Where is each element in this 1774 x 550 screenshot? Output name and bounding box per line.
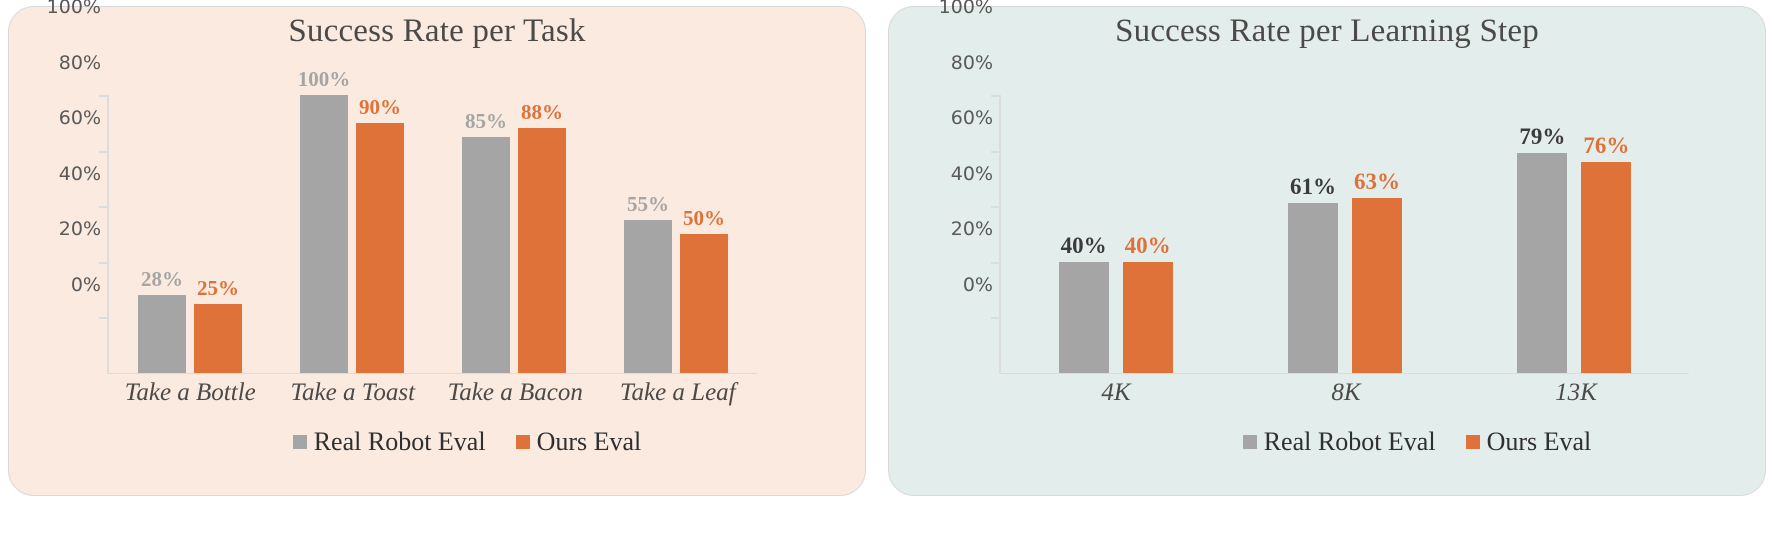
bar-ours[interactable]: 40%	[1123, 262, 1173, 373]
y-axis-tick	[99, 95, 107, 97]
bar-value-label: 40%	[1125, 233, 1171, 259]
bar-value-label: 88%	[521, 100, 563, 125]
x-axis-labels-left: Take a Bottle Take a Toast Take a Bacon …	[109, 379, 759, 407]
bar-value-label: 100%	[298, 67, 351, 92]
legend-item-ours-eval[interactable]: Ours Eval	[1466, 427, 1592, 457]
bar-real-robot[interactable]: 40%	[1059, 262, 1109, 373]
y-axis-tick	[991, 151, 999, 153]
legend-item-real-robot-eval[interactable]: Real Robot Eval	[1243, 427, 1436, 457]
bar-ours[interactable]: 50%	[680, 234, 728, 373]
bar-value-label: 90%	[359, 95, 401, 120]
plot-area-left: 28% 25% 100%	[107, 95, 757, 373]
bar-groups-left: 28% 25% 100%	[109, 95, 757, 373]
bar-ours[interactable]: 76%	[1581, 162, 1631, 373]
bar-real-robot[interactable]: 79%	[1517, 153, 1567, 373]
bar-group: 40% 40%	[1001, 95, 1230, 373]
bar-ours[interactable]: 25%	[194, 304, 242, 374]
x-category-label: 8K	[1231, 379, 1461, 407]
bar-real-robot[interactable]: 61%	[1288, 203, 1338, 373]
bar-group: 79% 76%	[1460, 95, 1689, 373]
y-tick-label: 60%	[951, 107, 993, 129]
x-category-label: 4K	[1001, 379, 1231, 407]
bar-group: 61% 63%	[1230, 95, 1459, 373]
y-tick-label: 20%	[59, 218, 101, 240]
y-axis-tick	[991, 262, 999, 264]
plot-area-right: 40% 40% 61% 6	[999, 95, 1689, 373]
bar-ours[interactable]: 88%	[518, 128, 566, 373]
legend-label: Real Robot Eval	[1264, 427, 1436, 457]
legend-right: Real Robot Eval Ours Eval	[889, 427, 1765, 457]
y-axis-tick	[991, 206, 999, 208]
x-category-label: 13K	[1461, 379, 1691, 407]
bar-group: 85% 88%	[433, 95, 595, 373]
y-tick-label: 40%	[59, 163, 101, 185]
y-axis-tick	[99, 317, 107, 319]
x-axis-labels-right: 4K 8K 13K	[1001, 379, 1691, 407]
y-tick-label: 80%	[59, 52, 101, 74]
y-tick-label: 20%	[951, 218, 993, 240]
legend-item-ours-eval[interactable]: Ours Eval	[516, 427, 642, 457]
bar-value-label: 76%	[1583, 133, 1629, 159]
legend-swatch-icon	[516, 435, 530, 449]
y-tick-label: 0%	[71, 274, 101, 296]
x-category-label: Take a Leaf	[597, 379, 760, 407]
x-category-label: Take a Bacon	[434, 379, 597, 407]
bar-groups-right: 40% 40% 61% 6	[1001, 95, 1689, 373]
bar-real-robot[interactable]: 100%	[300, 95, 348, 373]
y-tick-label: 80%	[951, 52, 993, 74]
y-axis-tick	[991, 95, 999, 97]
bar-value-label: 25%	[197, 276, 239, 301]
x-category-label: Take a Toast	[272, 379, 435, 407]
legend-swatch-icon	[1466, 435, 1480, 449]
bar-real-robot[interactable]: 28%	[138, 295, 186, 373]
bar-ours[interactable]: 63%	[1352, 198, 1402, 373]
bar-real-robot[interactable]: 85%	[462, 137, 510, 373]
bar-value-label: 63%	[1354, 169, 1400, 195]
y-axis-tick	[991, 317, 999, 319]
y-axis-labels-right: 100% 80% 60% 40% 20% 0%	[911, 7, 993, 285]
bar-value-label: 50%	[683, 206, 725, 231]
y-tick-label: 0%	[963, 274, 993, 296]
bar-real-robot[interactable]: 55%	[624, 220, 672, 373]
y-axis-labels-left: 100% 80% 60% 40% 20% 0%	[27, 7, 101, 285]
bar-value-label: 79%	[1519, 124, 1565, 150]
y-tick-label: 100%	[939, 0, 993, 18]
legend-left: Real Robot Eval Ours Eval	[9, 427, 865, 457]
y-axis-tick	[99, 151, 107, 153]
page-title-left: Success Rate per Task	[9, 13, 865, 50]
legend-swatch-icon	[1243, 435, 1257, 449]
legend-label: Real Robot Eval	[314, 427, 486, 457]
y-tick-label: 100%	[47, 0, 101, 18]
x-category-label: Take a Bottle	[109, 379, 272, 407]
bar-group: 100% 90%	[271, 95, 433, 373]
chart-panel-success-rate-per-learning-step: Success Rate per Learning Step 100% 80% …	[888, 6, 1766, 496]
y-tick-label: 40%	[951, 163, 993, 185]
y-axis-tick	[99, 206, 107, 208]
bar-group: 28% 25%	[109, 95, 271, 373]
bar-group: 55% 50%	[595, 95, 757, 373]
figure-canvas: Success Rate per Task 100% 80% 60% 40% 2…	[0, 0, 1774, 550]
legend-item-real-robot-eval[interactable]: Real Robot Eval	[293, 427, 486, 457]
y-tick-label: 60%	[59, 107, 101, 129]
bar-value-label: 85%	[465, 109, 507, 134]
bar-value-label: 61%	[1290, 174, 1336, 200]
bar-value-label: 40%	[1061, 233, 1107, 259]
chart-panel-success-rate-per-task: Success Rate per Task 100% 80% 60% 40% 2…	[8, 6, 866, 496]
legend-label: Ours Eval	[1487, 427, 1592, 457]
page-title-right: Success Rate per Learning Step	[889, 13, 1765, 50]
y-axis-tick	[99, 262, 107, 264]
legend-label: Ours Eval	[537, 427, 642, 457]
bar-ours[interactable]: 90%	[356, 123, 404, 373]
legend-swatch-icon	[293, 435, 307, 449]
bar-value-label: 55%	[627, 192, 669, 217]
bar-value-label: 28%	[141, 267, 183, 292]
